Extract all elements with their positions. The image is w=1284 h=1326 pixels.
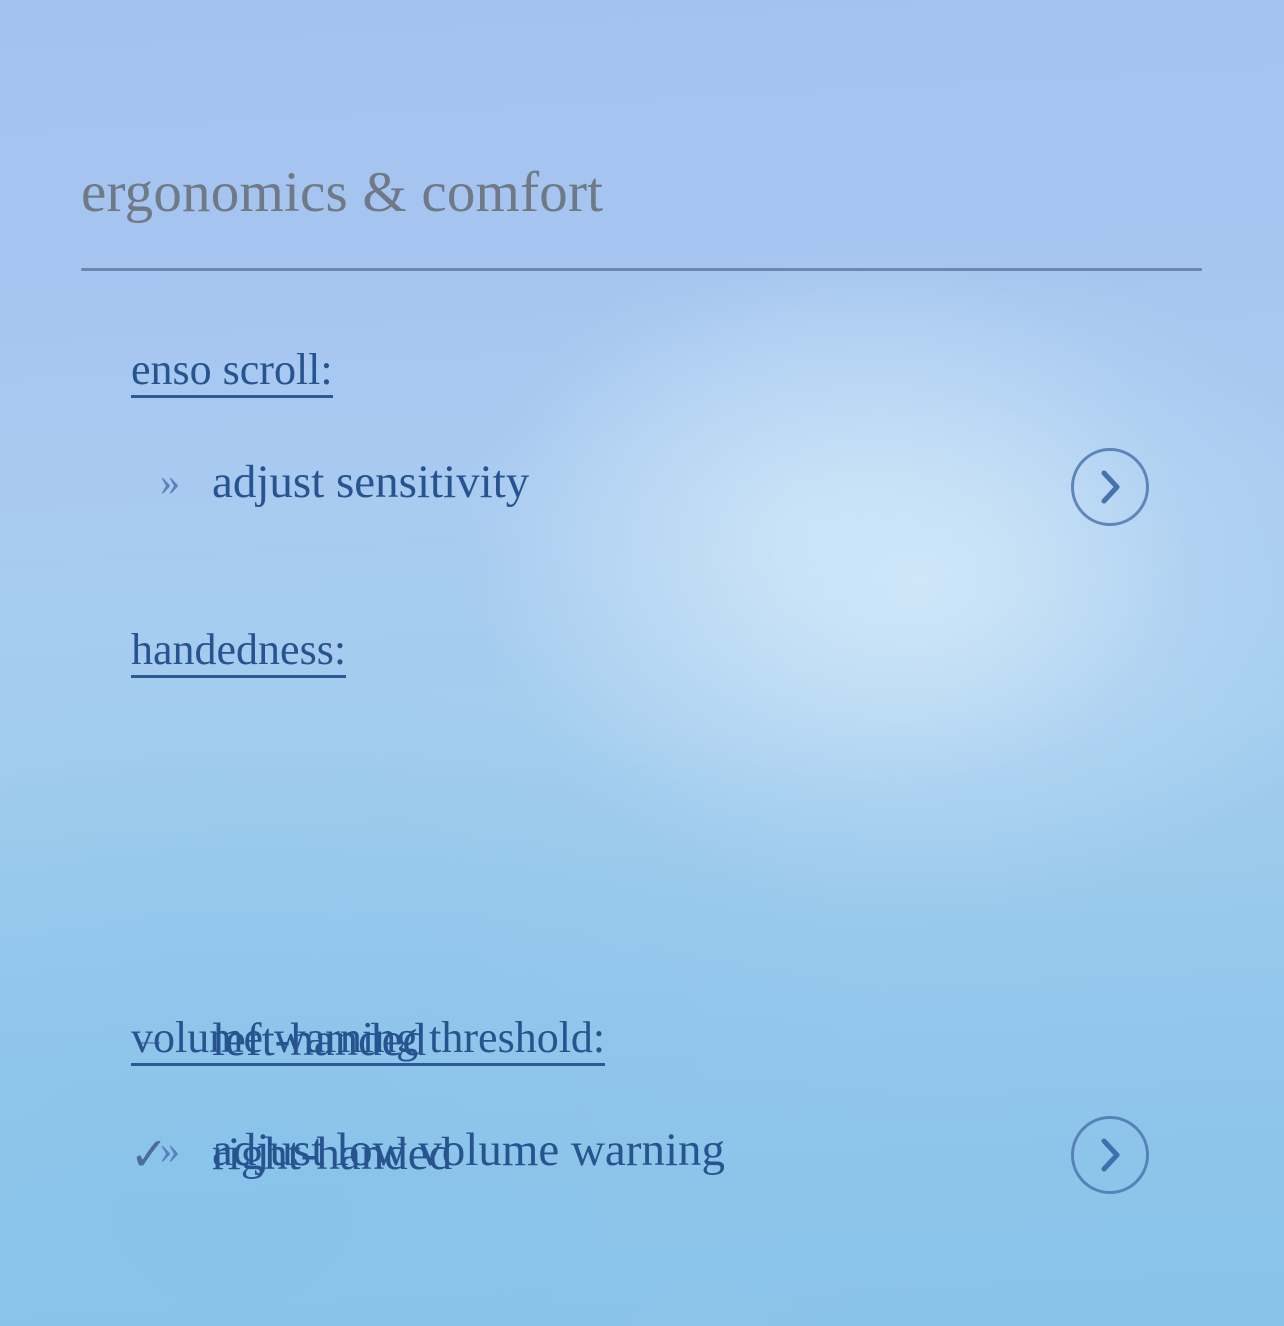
list-item-label: adjust low volume warning <box>212 1127 725 1174</box>
list-item-label: adjust sensitivity <box>212 459 529 506</box>
settings-screen: ergonomics & comfort enso scroll: » adju… <box>0 0 1284 1326</box>
guillemet-bullet-icon: » <box>135 1130 205 1170</box>
page-title: ergonomics & comfort <box>81 163 603 223</box>
guillemet-bullet-icon: » <box>135 462 205 502</box>
section-header-enso-scroll: enso scroll: <box>131 348 333 398</box>
chevron-right-circle-icon-adjust-low-volume-warning[interactable] <box>1071 1116 1149 1194</box>
chevron-right-circle-icon-adjust-sensitivity[interactable] <box>1071 448 1149 526</box>
title-divider <box>81 268 1202 271</box>
section-header-handedness: handedness: <box>131 628 346 678</box>
section-header-volume-warning-threshold: volume warning threshold: <box>131 1016 605 1066</box>
